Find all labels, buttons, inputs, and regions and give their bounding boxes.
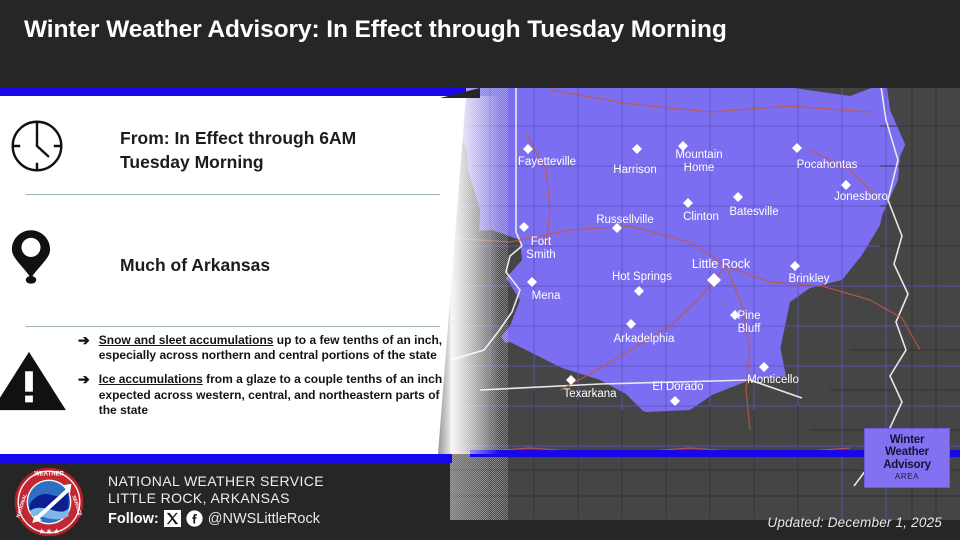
city-label: Mena: [532, 290, 561, 302]
city-label: Pocahontas: [797, 159, 858, 171]
divider-2: [26, 326, 440, 327]
city-marker-icon: [759, 362, 769, 372]
bullet-emphasis-1: Snow and sleet accumulations: [99, 333, 274, 347]
national-weather-service-logo-icon: WEATHER NATIONAL SERVICE ★ ★ ★: [14, 467, 84, 537]
clock-icon-cell: [0, 118, 92, 179]
city-label: Home: [684, 162, 715, 174]
city-label: Bluff: [738, 323, 762, 335]
legend-line-1: Winter: [869, 434, 945, 447]
city-label: Clinton: [683, 211, 719, 223]
city-label: Brinkley: [789, 273, 830, 285]
impacts-bullet-list: ➔ Snow and sleet accumulations up to a f…: [78, 333, 446, 427]
list-item: ➔ Ice accumulations from a glaze to a co…: [78, 372, 446, 418]
header-bar: Winter Weather Advisory: In Effect throu…: [0, 0, 960, 88]
city-marker-icon: [626, 319, 636, 329]
city-marker-icon: [841, 180, 851, 190]
city-marker-icon: [733, 192, 743, 202]
page-title: Winter Weather Advisory: In Effect throu…: [24, 16, 854, 44]
city-label: El Dorado: [652, 381, 703, 393]
pin-icon-cell: [0, 228, 86, 289]
arrow-icon: ➔: [78, 333, 90, 363]
city-label: Monticello: [747, 374, 799, 386]
city-label: Little Rock: [692, 257, 751, 271]
list-item: ➔ Snow and sleet accumulations up to a f…: [78, 333, 446, 363]
social-handle: @NWSLittleRock: [208, 511, 320, 527]
city-label: Smith: [526, 249, 555, 261]
bullet-text-2: Ice accumulations from a glaze to a coup…: [99, 372, 446, 418]
city-label: Harrison: [613, 164, 656, 176]
office-location: LITTLE ROCK, ARKANSAS: [108, 490, 398, 507]
map-pin-icon: [10, 228, 52, 284]
city-marker-icon: [790, 261, 800, 271]
advisory-legend-box: Winter Weather Advisory AREA: [864, 428, 950, 489]
x-twitter-icon[interactable]: [164, 510, 181, 527]
legend-line-3: Advisory: [869, 459, 945, 472]
warning-icon-cell: [0, 348, 84, 419]
city-label: Pine: [737, 310, 760, 322]
facebook-icon[interactable]: [186, 510, 203, 527]
city-marker-icon: [632, 144, 642, 154]
city-marker-icon: [707, 273, 721, 287]
panel-bottom-accent-bar: [0, 454, 452, 463]
bullet-text-1: Snow and sleet accumulations up to a few…: [99, 333, 446, 363]
city-label: Hot Springs: [612, 271, 672, 283]
city-label: Jonesboro: [834, 191, 888, 203]
warning-triangle-icon: [0, 348, 68, 414]
city-marker-icon: [670, 396, 680, 406]
city-marker-icon: [523, 144, 533, 154]
arrow-icon: ➔: [78, 372, 90, 418]
weather-graphic: FayettevilleHarrisonMountainHomePocahont…: [0, 0, 960, 540]
city-marker-icon: [634, 286, 644, 296]
city-label: Texarkana: [563, 388, 617, 400]
header-accent-bar: [0, 88, 466, 96]
footer: WEATHER NATIONAL SERVICE ★ ★ ★ NATIONAL …: [0, 463, 466, 540]
social-follow-row: Follow: @NWSLittleRock: [108, 510, 398, 527]
legend-sublabel: AREA: [869, 472, 945, 481]
footer-text-block: NATIONAL WEATHER SERVICE LITTLE ROCK, AR…: [108, 473, 398, 527]
svg-text:WEATHER: WEATHER: [34, 471, 64, 477]
city-label: Russellville: [596, 214, 654, 226]
city-label: Mountain: [675, 149, 722, 161]
city-marker-icon: [566, 375, 576, 385]
city-marker-icon: [683, 198, 693, 208]
legend-line-2: Weather: [869, 446, 945, 459]
follow-label: Follow:: [108, 511, 159, 527]
timing-text: From: In Effect through 6AM Tuesday Morn…: [120, 126, 420, 174]
city-marker-icon: [527, 277, 537, 287]
svg-text:★ ★ ★: ★ ★ ★: [38, 529, 60, 536]
city-label: Fayetteville: [518, 156, 576, 168]
divider-1: [26, 194, 440, 195]
city-marker-icon: [519, 222, 529, 232]
city-label: Fort: [531, 236, 552, 248]
clock-icon: [9, 118, 65, 174]
bullet-emphasis-2: Ice accumulations: [99, 372, 203, 386]
city-marker-icon: [792, 143, 802, 153]
location-text: Much of Arkansas: [120, 253, 420, 277]
agency-name: NATIONAL WEATHER SERVICE: [108, 473, 398, 490]
city-label: Arkadelphia: [614, 333, 675, 345]
updated-timestamp: Updated: December 1, 2025: [767, 515, 942, 530]
city-label: Batesville: [729, 206, 778, 218]
